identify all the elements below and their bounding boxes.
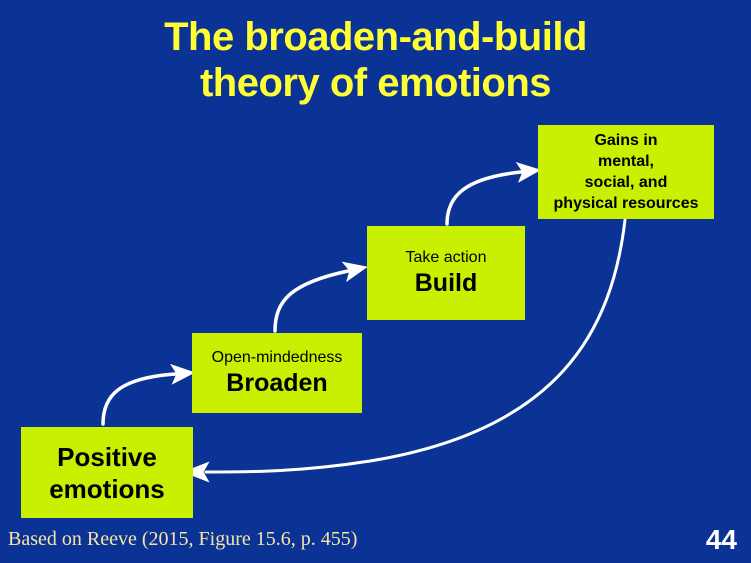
- box-gains-line-3: social, and: [585, 172, 668, 193]
- box-gains-in-resources[interactable]: Gains in mental, social, and physical re…: [538, 125, 714, 219]
- box-build-title: Build: [415, 268, 478, 298]
- box-positive-emotions[interactable]: Positive emotions: [21, 427, 193, 518]
- box-positive-line-2: emotions: [49, 473, 165, 505]
- box-build[interactable]: Take action Build: [367, 226, 525, 320]
- slide-canvas: The broaden-and-build theory of emotions…: [0, 0, 751, 563]
- box-gains-line-2: mental,: [598, 151, 654, 172]
- arrow-broaden-to-build: [275, 271, 348, 331]
- box-gains-line-1: Gains in: [594, 130, 657, 151]
- box-gains-line-4: physical resources: [554, 193, 699, 214]
- box-build-subtitle: Take action: [406, 248, 487, 268]
- box-broaden-title: Broaden: [226, 368, 327, 398]
- box-broaden-subtitle: Open-mindedness: [212, 348, 343, 368]
- box-broaden[interactable]: Open-mindedness Broaden: [192, 333, 362, 413]
- arrow-build-to-gains: [447, 172, 521, 224]
- arrow-positive-to-broaden: [103, 374, 175, 424]
- box-positive-line-1: Positive: [57, 441, 157, 473]
